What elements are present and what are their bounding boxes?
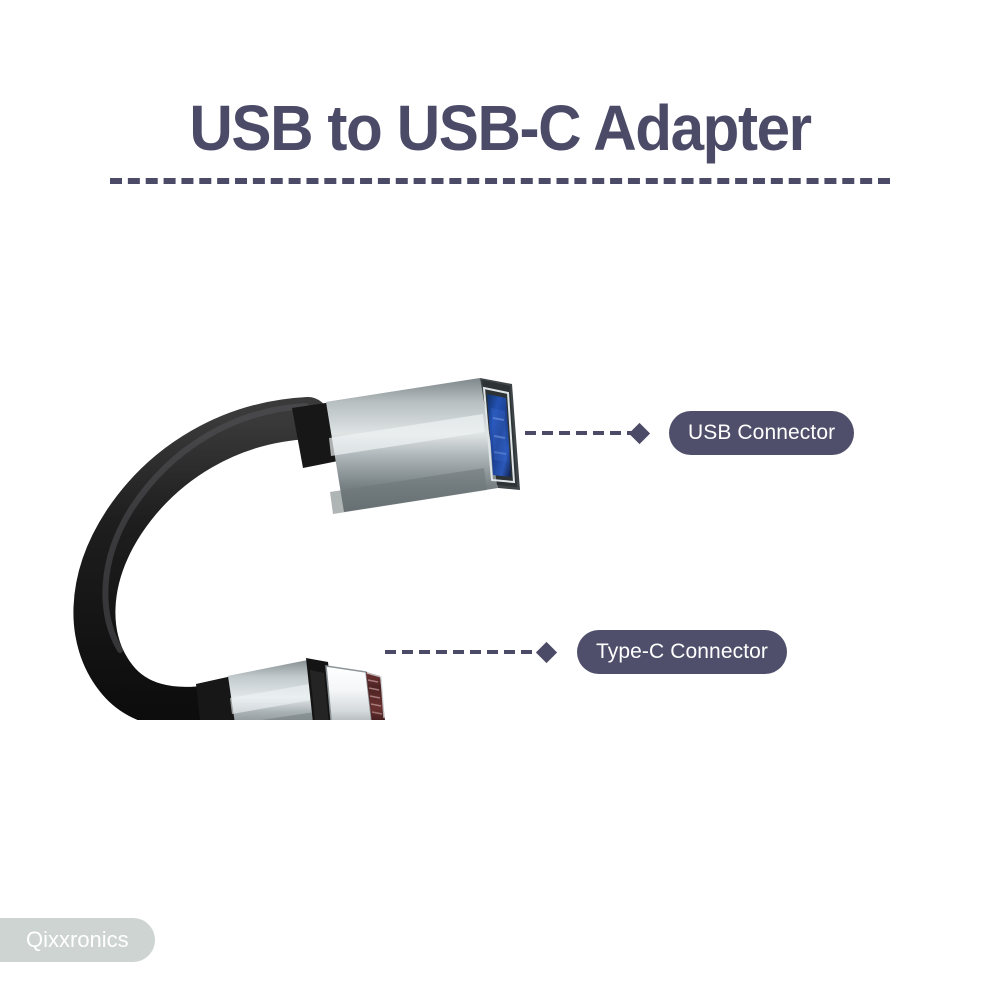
cable-body xyxy=(94,406,308,708)
leader-line xyxy=(525,431,633,435)
callout-label-typec-connector: Type-C Connector xyxy=(577,630,787,674)
brand-watermark: Qixxronics xyxy=(0,918,155,962)
title-block: USB to USB-C Adapter xyxy=(0,96,1000,160)
leader-diamond-marker xyxy=(536,641,557,662)
callout-usb-connector: USB Connector xyxy=(525,411,854,455)
usb-a-connector xyxy=(292,378,520,514)
leader-diamond-marker xyxy=(629,422,650,443)
leader-line xyxy=(385,650,540,654)
title-divider xyxy=(110,178,890,184)
callout-typec-connector: Type-C Connector xyxy=(385,630,787,674)
usb-c-connector xyxy=(196,658,385,720)
infographic-canvas: USB to USB-C Adapter xyxy=(0,0,1000,1000)
callout-label-usb-connector: USB Connector xyxy=(669,411,854,455)
page-title: USB to USB-C Adapter xyxy=(30,96,970,160)
